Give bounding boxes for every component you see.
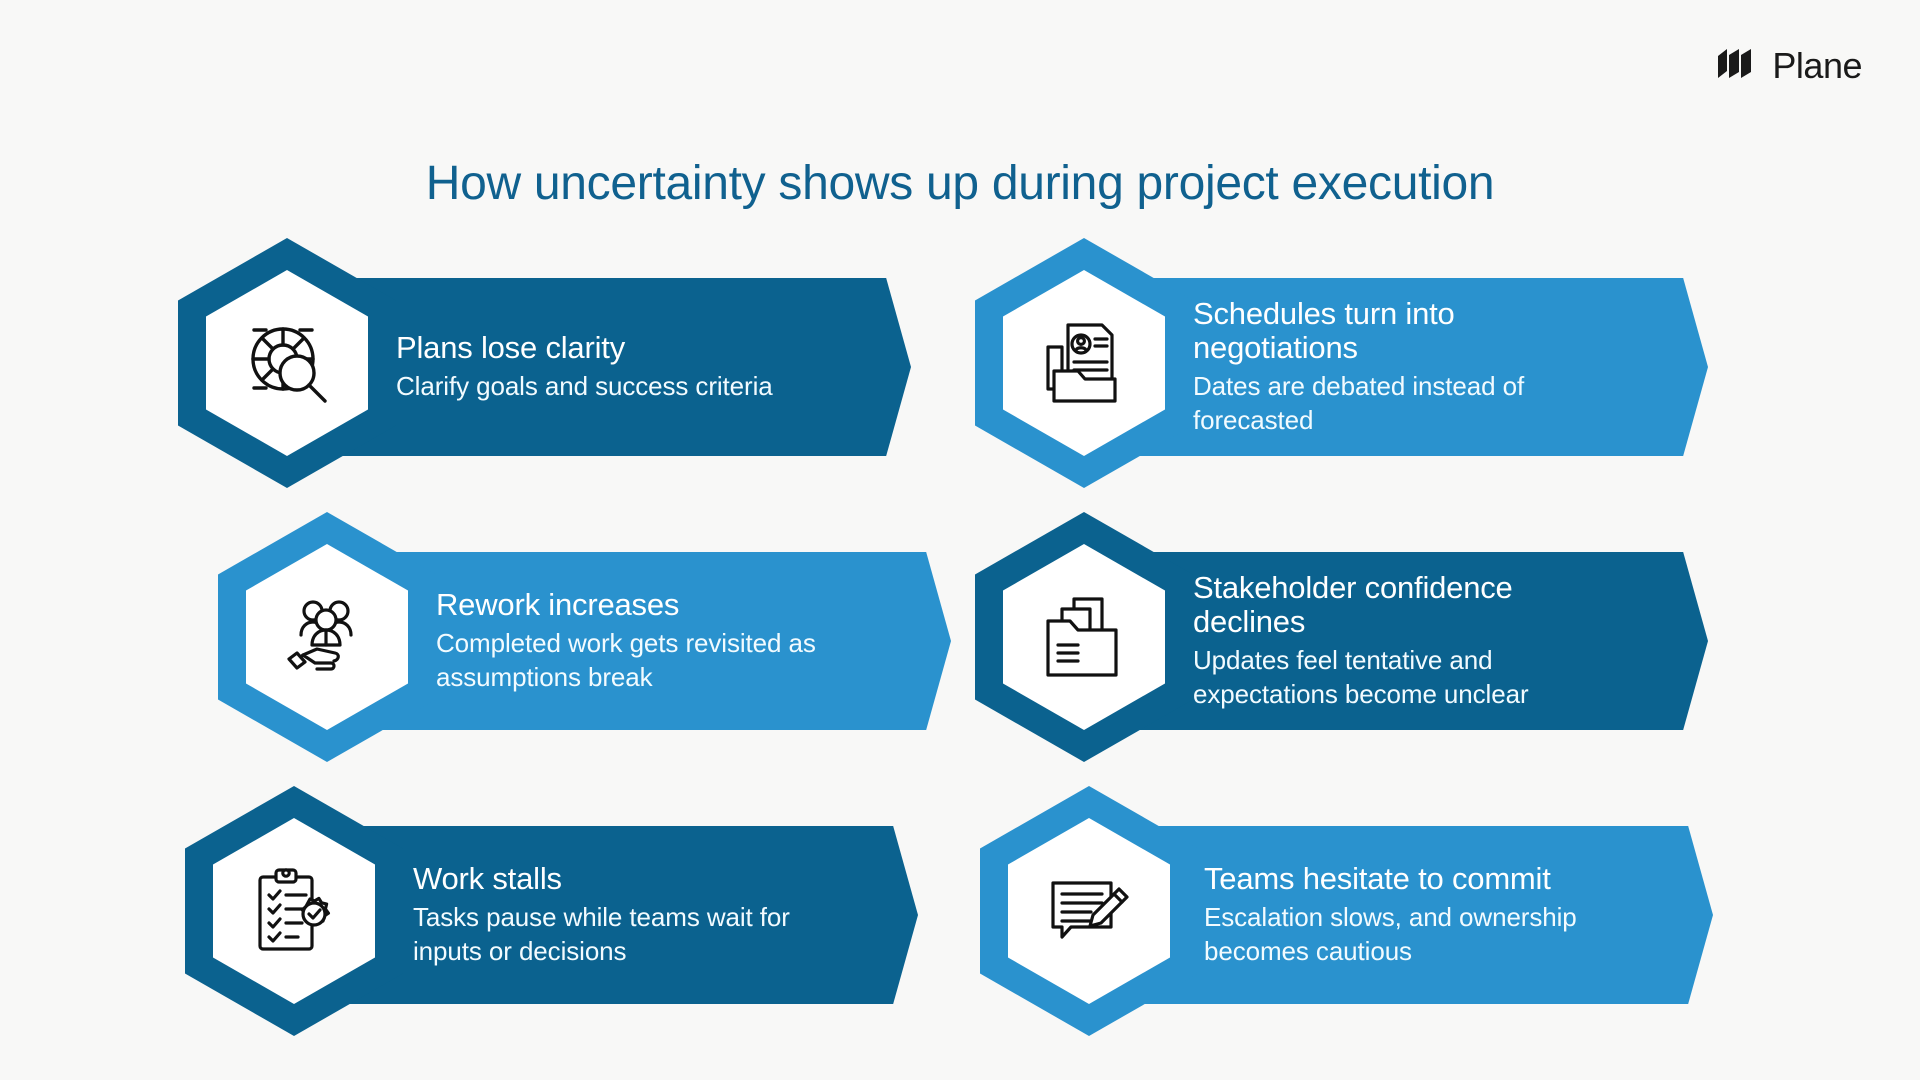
brand-logo: Plane (1718, 48, 1862, 84)
folder-contact-document-icon (1034, 313, 1134, 413)
card-description: Dates are debated instead of forecasted (1193, 369, 1623, 438)
folder-files-icon (1034, 587, 1134, 687)
card-description: Clarify goals and success criteria (396, 369, 826, 403)
brand-name: Plane (1772, 48, 1862, 84)
card-icon-plate (1003, 544, 1165, 730)
card-icon-plate (246, 544, 408, 730)
card-icon-plate (213, 818, 375, 1004)
card-icon-plate (206, 270, 368, 456)
card-teams-hesitate-to-commit[interactable]: Teams hesitate to commit Escalation slow… (980, 786, 1713, 1036)
card-description: Updates feel tentative and expectations … (1193, 643, 1623, 712)
card-title: Schedules turn into negotiations (1193, 297, 1623, 365)
card-text: Stakeholder confidence declines Updates … (1193, 552, 1623, 730)
card-title: Work stalls (413, 862, 843, 896)
hand-holding-people-icon (277, 587, 377, 687)
card-description: Tasks pause while teams wait for inputs … (413, 900, 843, 969)
card-icon-plate (1008, 818, 1170, 1004)
card-title: Teams hesitate to commit (1204, 862, 1634, 896)
card-row-2: Rework increases Completed work gets rev… (0, 512, 1920, 786)
card-text: Rework increases Completed work gets rev… (436, 552, 866, 730)
card-rework-increases[interactable]: Rework increases Completed work gets rev… (218, 512, 951, 762)
clipboard-gear-check-icon (244, 861, 344, 961)
note-pencil-icon (1039, 861, 1139, 961)
card-work-stalls[interactable]: Work stalls Tasks pause while teams wait… (185, 786, 918, 1036)
target-magnifier-icon (235, 311, 339, 415)
card-row-3: Work stalls Tasks pause while teams wait… (0, 786, 1920, 1060)
card-plans-lose-clarity[interactable]: Plans lose clarity Clarify goals and suc… (178, 238, 911, 488)
card-description: Escalation slows, and ownership becomes … (1204, 900, 1634, 969)
card-title: Plans lose clarity (396, 331, 826, 365)
card-text: Teams hesitate to commit Escalation slow… (1204, 826, 1634, 1004)
card-row-1: Plans lose clarity Clarify goals and suc… (0, 238, 1920, 512)
card-text: Work stalls Tasks pause while teams wait… (413, 826, 843, 1004)
page-title: How uncertainty shows up during project … (0, 158, 1920, 211)
plane-logo-icon (1718, 49, 1760, 84)
card-text: Schedules turn into negotiations Dates a… (1193, 278, 1623, 456)
card-description: Completed work gets revisited as assumpt… (436, 626, 866, 695)
card-schedules-turn-into-negotiations[interactable]: Schedules turn into negotiations Dates a… (975, 238, 1708, 488)
cards-grid: Plans lose clarity Clarify goals and suc… (0, 238, 1920, 1060)
card-icon-plate (1003, 270, 1165, 456)
card-text: Plans lose clarity Clarify goals and suc… (396, 278, 826, 456)
card-stakeholder-confidence-declines[interactable]: Stakeholder confidence declines Updates … (975, 512, 1708, 762)
card-title: Rework increases (436, 588, 866, 622)
card-title: Stakeholder confidence declines (1193, 571, 1623, 639)
